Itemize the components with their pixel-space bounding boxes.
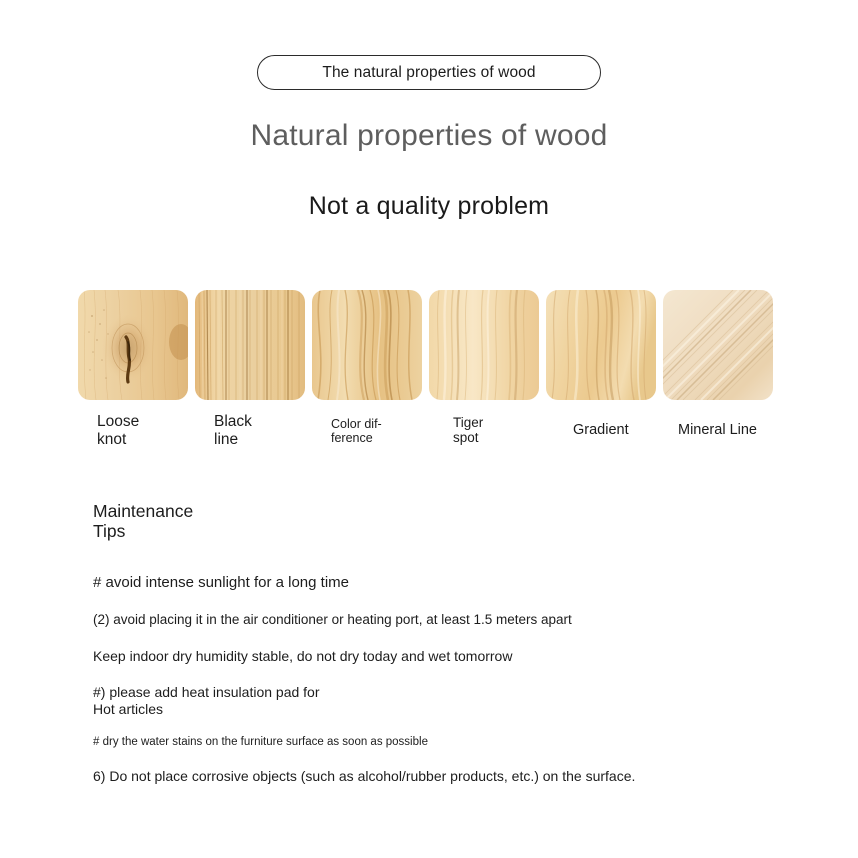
wood-swatch-tiger-spot — [429, 290, 539, 400]
swatch-label-tiger-spot: Tiger spot — [453, 415, 483, 446]
maintenance-tip-1: # avoid intense sunlight for a long time — [93, 574, 713, 592]
maintenance-tip-2: (2) avoid placing it in the air conditio… — [93, 612, 713, 628]
wood-swatch-loose-knot — [78, 290, 188, 400]
swatch-label-color-difference: Color dif- ference — [331, 417, 382, 445]
wood-swatch-row — [78, 290, 783, 400]
wood-swatch-black-line — [195, 290, 305, 400]
maintenance-tip-4: #) please add heat insulation pad for Ho… — [93, 684, 713, 717]
page-title-container: Natural properties of wood — [0, 119, 858, 153]
swatch-label-black-line: Black line — [214, 413, 252, 448]
swatch-label-mineral-line: Mineral Line — [678, 422, 757, 438]
maintenance-tips-title: Maintenance Tips — [93, 502, 193, 542]
maintenance-tip-5: # dry the water stains on the furniture … — [93, 736, 713, 750]
wood-swatch-mineral-line — [663, 290, 773, 400]
tiger-spot-icon — [429, 290, 539, 400]
swatch-label-gradient: Gradient — [573, 422, 629, 438]
black-line-icon — [195, 290, 305, 400]
badge-container: The natural properties of wood — [0, 55, 858, 90]
loose-knot-icon — [78, 290, 188, 400]
page-title: Natural properties of wood — [250, 119, 607, 152]
page-subtitle-container: Not a quality problem — [0, 192, 858, 221]
maintenance-tip-6: 6) Do not place corrosive objects (such … — [93, 768, 713, 785]
swatch-label-row: Loose knot Black line Color dif- ference… — [78, 405, 838, 450]
gradient-icon — [546, 290, 656, 400]
maintenance-tip-3: Keep indoor dry humidity stable, do not … — [93, 648, 713, 665]
maintenance-tips-list: # avoid intense sunlight for a long time… — [93, 574, 713, 784]
wood-properties-infographic: The natural properties of wood Natural p… — [0, 0, 858, 858]
color-difference-icon — [312, 290, 422, 400]
wood-swatch-color-difference — [312, 290, 422, 400]
badge-label: The natural properties of wood — [322, 64, 535, 82]
wood-swatch-gradient — [546, 290, 656, 400]
swatch-label-loose-knot: Loose knot — [97, 413, 139, 448]
page-subtitle: Not a quality problem — [309, 192, 549, 220]
mineral-line-icon — [663, 290, 773, 400]
section-badge: The natural properties of wood — [257, 55, 601, 90]
